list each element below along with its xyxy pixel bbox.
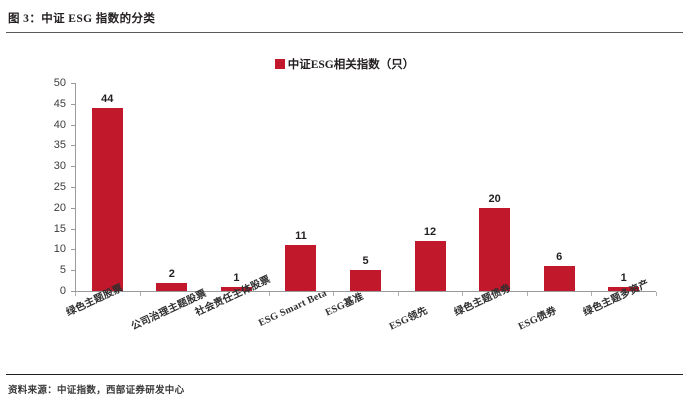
bar bbox=[92, 108, 123, 291]
legend-label: 中证ESG相关指数（只） bbox=[288, 56, 415, 72]
x-axis-tick-mark bbox=[591, 292, 592, 296]
bar bbox=[350, 270, 381, 291]
y-axis-tick-label: 0 bbox=[20, 285, 66, 297]
chart-legend: 中证ESG相关指数（只） bbox=[0, 56, 689, 72]
y-axis-tick-label: 40 bbox=[20, 119, 66, 131]
bar-value-label: 12 bbox=[400, 226, 460, 238]
x-axis-label: ESG基准 bbox=[322, 288, 366, 319]
header-divider bbox=[6, 32, 683, 33]
bar bbox=[415, 241, 446, 291]
chart-figure: 图 3：中证 ESG 指数的分类 中证ESG相关指数（只） 0510152025… bbox=[0, 0, 689, 411]
x-axis-tick-mark bbox=[527, 292, 528, 296]
bar-value-label: 44 bbox=[77, 93, 137, 105]
y-axis-tick-label: 20 bbox=[20, 202, 66, 214]
bar-value-label: 2 bbox=[142, 268, 202, 280]
y-axis-tick-label: 5 bbox=[20, 264, 66, 276]
y-axis-tick-label: 25 bbox=[20, 181, 66, 193]
y-axis-tick-label: 15 bbox=[20, 223, 66, 235]
x-axis-tick-mark bbox=[333, 292, 334, 296]
legend-item: 中证ESG相关指数（只） bbox=[275, 56, 415, 72]
bar-value-label: 20 bbox=[465, 193, 525, 205]
y-axis-tick-label: 10 bbox=[20, 243, 66, 255]
x-axis-line bbox=[75, 291, 656, 292]
legend-swatch-icon bbox=[275, 59, 285, 69]
bar bbox=[156, 283, 187, 291]
y-axis-tick-label: 30 bbox=[20, 160, 66, 172]
x-axis-tick-mark bbox=[462, 292, 463, 296]
bar-value-label: 11 bbox=[271, 230, 331, 242]
x-axis-tick-mark bbox=[269, 292, 270, 296]
x-axis-tick-mark bbox=[398, 292, 399, 296]
x-axis-tick-mark bbox=[656, 292, 657, 296]
bar-value-label: 5 bbox=[336, 255, 396, 267]
y-axis-tick-label: 45 bbox=[20, 98, 66, 110]
x-axis-tick-mark bbox=[140, 292, 141, 296]
bar bbox=[285, 245, 316, 291]
y-axis-tick-label: 35 bbox=[20, 139, 66, 151]
footer-divider bbox=[6, 374, 683, 375]
x-axis-label: ESG债券 bbox=[515, 302, 559, 333]
x-axis-tick-mark bbox=[75, 292, 76, 296]
x-axis-label: ESG领先 bbox=[386, 302, 430, 333]
bar bbox=[544, 266, 575, 291]
source-note: 资料来源：中证指数，西部证券研发中心 bbox=[8, 382, 184, 396]
page-title: 图 3：中证 ESG 指数的分类 bbox=[8, 10, 155, 26]
y-axis-tick-label: 50 bbox=[20, 77, 66, 89]
bar-value-label: 6 bbox=[529, 251, 589, 263]
